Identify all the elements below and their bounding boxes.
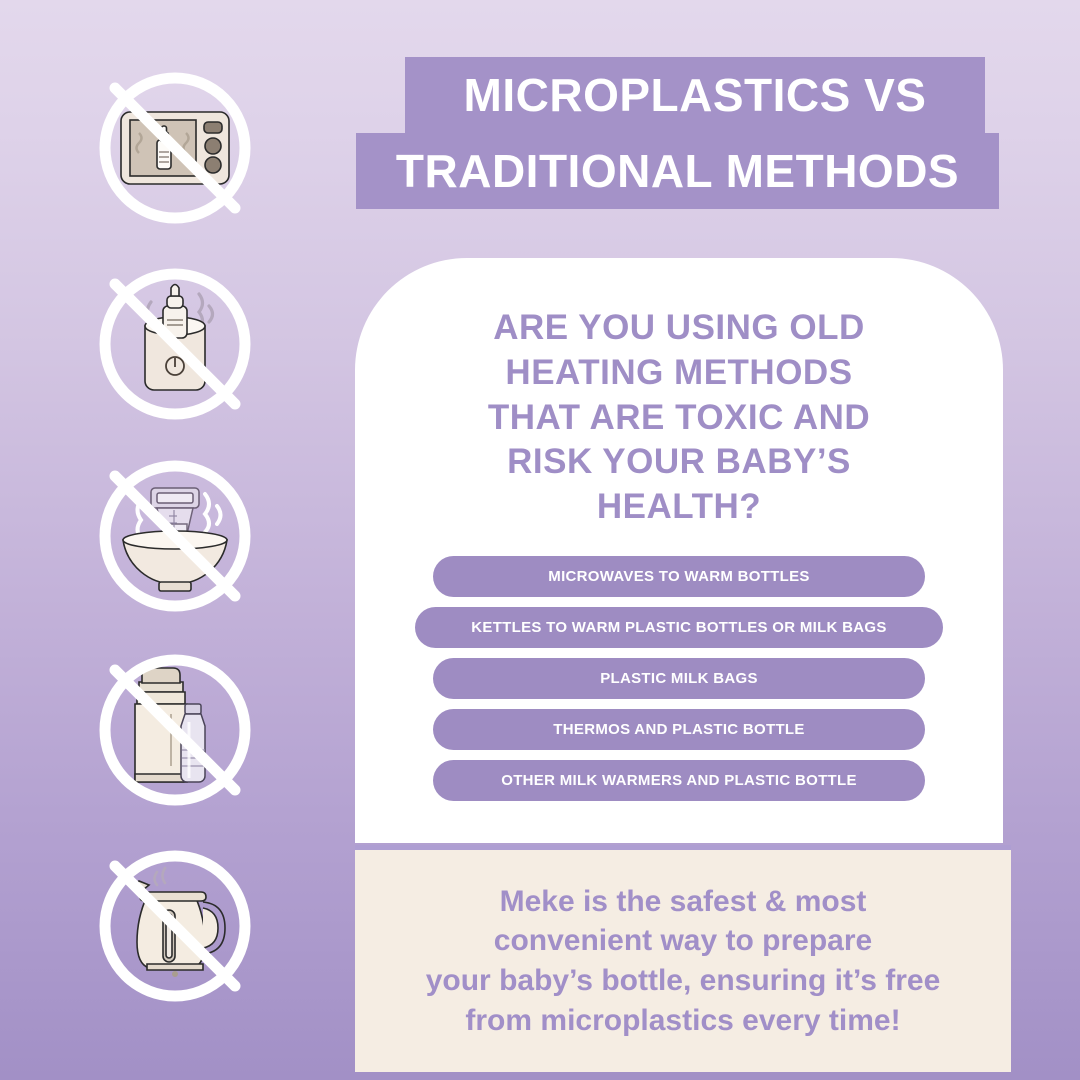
list-item: THERMOS AND PLASTIC BOTTLE: [433, 709, 925, 750]
card-heading: ARE YOU USING OLD HEATING METHODS THAT A…: [355, 306, 1003, 530]
card-heading-line: THAT ARE TOXIC AND: [395, 396, 963, 441]
card-heading-line: ARE YOU USING OLD: [395, 306, 963, 351]
card-heading-line: RISK YOUR BABY’S: [395, 440, 963, 485]
list-item: KETTLES TO WARM PLASTIC BOTTLES OR MILK …: [415, 607, 943, 648]
list-item: MICROWAVES TO WARM BOTTLES: [433, 556, 925, 597]
list-item: OTHER MILK WARMERS AND PLASTIC BOTTLE: [433, 760, 925, 801]
title-line-2: TRADITIONAL METHODS: [356, 133, 999, 209]
no-thermos-bottle-icon: [85, 642, 265, 822]
footer-line: from microplastics every time!: [426, 1001, 941, 1041]
no-hot-water-bowl-icon: [85, 448, 265, 628]
page-title: MICROPLASTICS VS TRADITIONAL METHODS: [0, 57, 1080, 209]
footer-text: Meke is the safest & most convenient way…: [404, 882, 963, 1040]
no-bottle-warmer-icon: [85, 254, 265, 434]
card-heading-line: HEALTH?: [395, 485, 963, 530]
list-item: PLASTIC MILK BAGS: [433, 658, 925, 699]
bad-methods-list: MICROWAVES TO WARM BOTTLES KETTLES TO WA…: [355, 556, 1003, 801]
main-card: ARE YOU USING OLD HEATING METHODS THAT A…: [355, 258, 1003, 843]
title-line-1: MICROPLASTICS VS: [405, 57, 985, 133]
no-electric-kettle-icon: [85, 836, 265, 1016]
footer-panel: Meke is the safest & most convenient way…: [355, 850, 1011, 1072]
footer-line: convenient way to prepare: [426, 921, 941, 961]
footer-line: Meke is the safest & most: [426, 882, 941, 922]
footer-line: your baby’s bottle, ensuring it’s free: [426, 961, 941, 1001]
card-heading-line: HEATING METHODS: [395, 351, 963, 396]
